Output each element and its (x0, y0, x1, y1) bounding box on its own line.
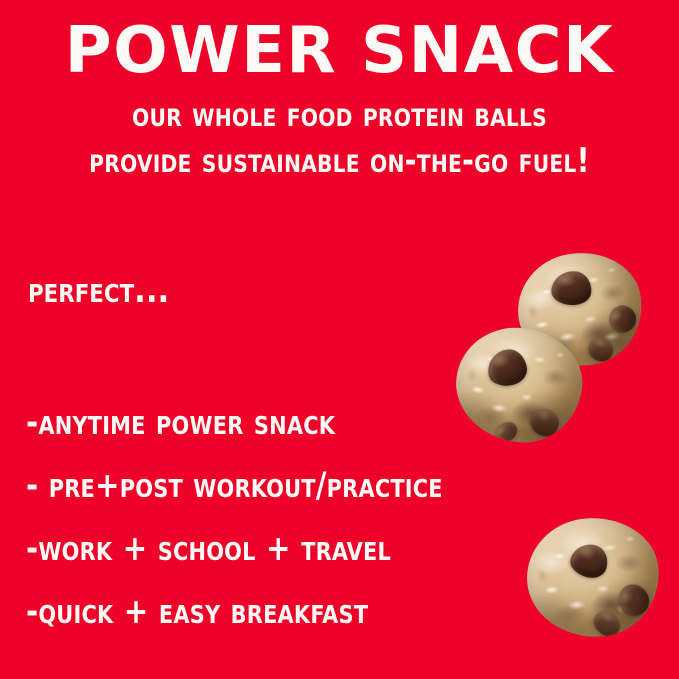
benefits-list: -Anytime Power Snack - Pre+Post Workout/… (26, 392, 496, 644)
list-item-benefit-3: -Work + School + Travel (26, 518, 463, 581)
chocolate-chip-icon (525, 403, 564, 442)
chocolate-chip-icon (486, 347, 530, 389)
subtitle-line-1: Our Whole Food Protein Balls (20, 92, 658, 138)
chocolate-chip-icon (590, 606, 626, 641)
chocolate-chip-icon (604, 300, 641, 337)
product-poster: POWER SNACK Our Whole Food Protein Balls… (0, 0, 679, 679)
subtitle-line-2: Provide Sustainable On-The-Go FUEL! (20, 138, 658, 184)
chocolate-chip-icon (551, 270, 592, 306)
lead-in-text: Perfect... (28, 270, 169, 312)
chocolate-chip-icon (585, 334, 618, 366)
chocolate-chip-icon (612, 578, 655, 622)
chocolate-chip-icon (566, 540, 611, 583)
subtitle-block: Our Whole Food Protein Balls Provide Sus… (0, 92, 679, 184)
page-title: POWER SNACK (0, 19, 679, 83)
list-item-benefit-4: -Quick + Easy Breakfast (26, 581, 463, 644)
list-item-benefit-1: -Anytime Power Snack (26, 392, 463, 455)
list-item-benefit-2: - Pre+Post Workout/Practice (26, 455, 463, 518)
protein-ball-bottom (523, 514, 663, 642)
